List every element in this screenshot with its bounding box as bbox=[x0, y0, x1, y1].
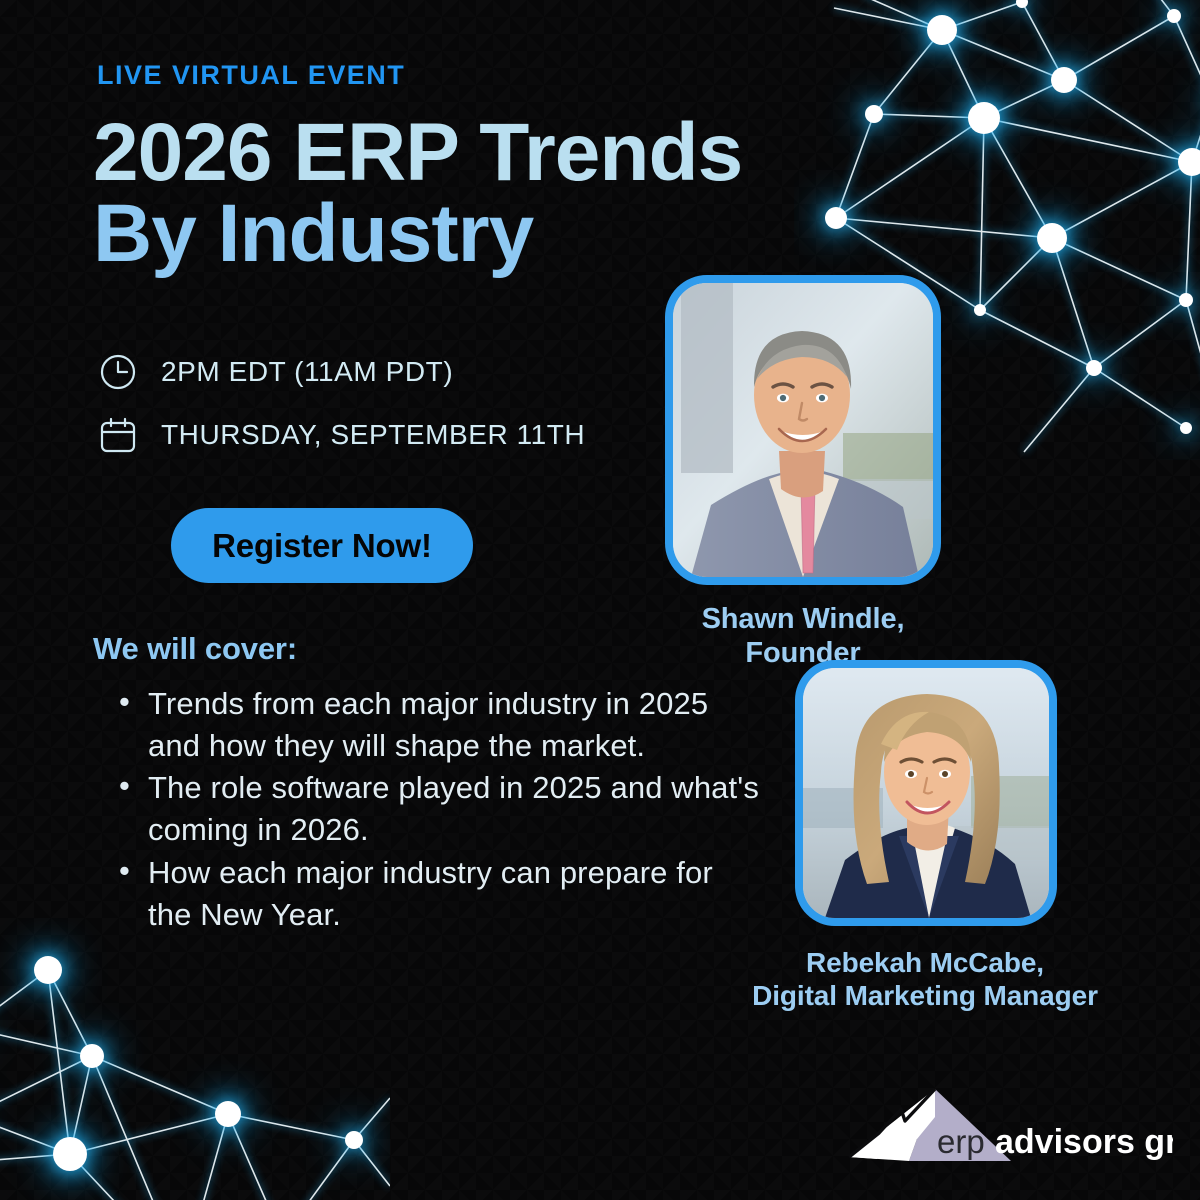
list-item: The role software played in 2025 and wha… bbox=[112, 767, 762, 851]
logo-text-bold: advisors group bbox=[995, 1123, 1173, 1161]
headline-line-2: By Industry bbox=[93, 193, 742, 274]
headline-line-1: 2026 ERP Trends bbox=[93, 112, 742, 193]
speaker-card-rebekah-mccabe: Rebekah McCabe, Digital Marketing Manage… bbox=[795, 660, 1057, 1013]
list-item: Trends from each major industry in 2025 … bbox=[112, 683, 762, 767]
event-time-row: 2PM EDT (11AM PDT) bbox=[98, 352, 453, 392]
calendar-icon bbox=[98, 415, 138, 455]
cover-heading: We will cover: bbox=[93, 631, 297, 667]
event-promo-poster: LIVE VIRTUAL EVENT 2026 ERP Trends By In… bbox=[0, 0, 1200, 1200]
speaker-photo-frame bbox=[665, 275, 941, 585]
speaker-card-shawn-windle: Shawn Windle, Founder bbox=[665, 275, 941, 671]
clock-icon bbox=[98, 352, 138, 392]
logo-text-light: erp bbox=[937, 1123, 985, 1160]
register-now-button[interactable]: Register Now! bbox=[171, 508, 473, 583]
speaker-name: Rebekah McCabe, Digital Marketing Manage… bbox=[695, 947, 1155, 1013]
eyebrow-label: LIVE VIRTUAL EVENT bbox=[97, 60, 405, 91]
cover-bullet-list: Trends from each major industry in 2025 … bbox=[112, 683, 762, 936]
event-time-text: 2PM EDT (11AM PDT) bbox=[161, 356, 453, 388]
network-graphic-bottom-left bbox=[0, 918, 390, 1200]
speaker-photo-frame bbox=[795, 660, 1057, 926]
page-title: 2026 ERP Trends By Industry bbox=[93, 112, 742, 274]
event-date-text: THURSDAY, SEPTEMBER 11TH bbox=[161, 419, 585, 451]
erp-advisors-group-logo: erp advisors group bbox=[843, 1083, 1173, 1188]
avatar bbox=[803, 668, 1049, 918]
list-item: How each major industry can prepare for … bbox=[112, 852, 762, 936]
event-date-row: THURSDAY, SEPTEMBER 11TH bbox=[98, 415, 585, 455]
avatar bbox=[673, 283, 933, 577]
